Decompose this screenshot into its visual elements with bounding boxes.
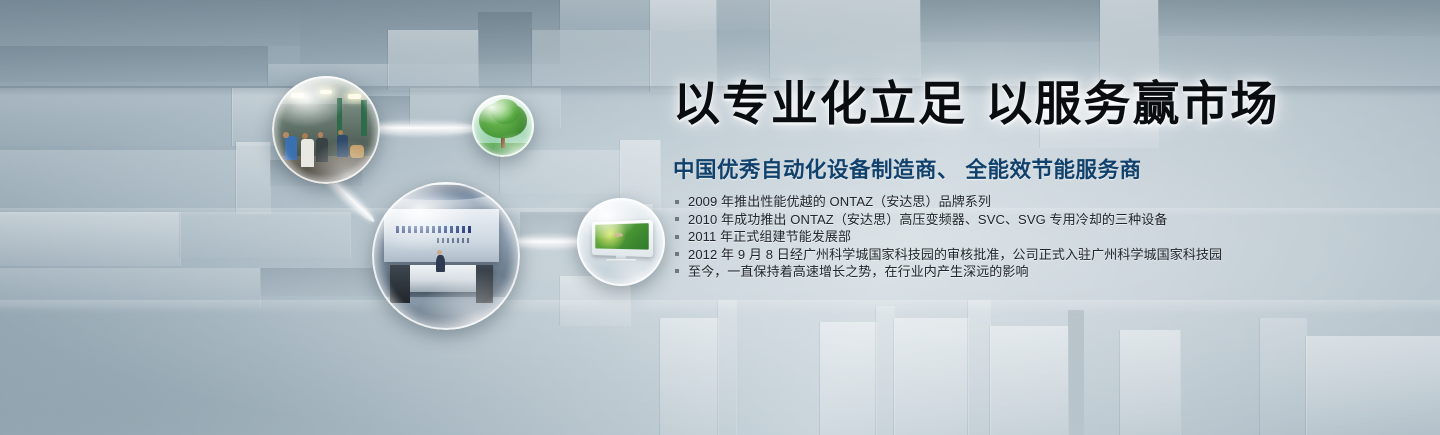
- list-item: 2012 年 9 月 8 日经广州科学城国家科技园的审核批准，公司正式入驻广州科…: [673, 246, 1418, 263]
- lobby-photo: [372, 182, 520, 330]
- bullet-square-icon: [675, 200, 679, 204]
- list-item: 2009 年推出性能优越的 ONTAZ（安达思）品牌系列: [673, 193, 1418, 210]
- list-item: 2011 年正式组建节能发展部: [673, 228, 1418, 245]
- banner-bullet-list: 2009 年推出性能优越的 ONTAZ（安达思）品牌系列 2010 年成功推出 …: [673, 193, 1418, 280]
- list-item-text: 2010 年成功推出 ONTAZ（安达思）高压变频器、SVC、SVG 专用冷却的…: [688, 211, 1167, 228]
- tree-photo: [472, 95, 534, 157]
- list-item: 至今，一直保持着高速增长之势，在行业内产生深远的影响: [673, 263, 1418, 280]
- hero-banner: 以专业化立足 以服务赢市场 中国优秀自动化设备制造商、 全能效节能服务商 200…: [0, 0, 1440, 435]
- list-item-text: 至今，一直保持着高速增长之势，在行业内产生深远的影响: [688, 263, 1029, 280]
- lobby-sphere: [372, 182, 520, 330]
- tree-sphere: [472, 95, 534, 157]
- banner-subheadline: 中国优秀自动化设备制造商、 全能效节能服务商: [673, 153, 1418, 184]
- list-item-text: 2012 年 9 月 8 日经广州科学城国家科技园的审核批准，公司正式入驻广州科…: [688, 246, 1222, 263]
- bullet-square-icon: [675, 269, 679, 273]
- workshop-sphere: [272, 76, 380, 184]
- banner-headline: 以专业化立足 以服务赢市场: [673, 80, 1418, 129]
- list-item: 2010 年成功推出 ONTAZ（安达思）高压变频器、SVC、SVG 专用冷却的…: [673, 211, 1418, 228]
- list-item-text: 2011 年正式组建节能发展部: [688, 228, 851, 245]
- list-item-text: 2009 年推出性能优越的 ONTAZ（安达思）品牌系列: [688, 193, 991, 210]
- bullet-square-icon: [675, 252, 679, 256]
- monitor-photo: [577, 198, 665, 286]
- workshop-photo: [272, 76, 380, 184]
- bullet-square-icon: [675, 235, 679, 239]
- bullet-square-icon: [675, 217, 679, 221]
- banner-copy: 以专业化立足 以服务赢市场 中国优秀自动化设备制造商、 全能效节能服务商 200…: [673, 80, 1418, 280]
- monitor-sphere: [577, 198, 665, 286]
